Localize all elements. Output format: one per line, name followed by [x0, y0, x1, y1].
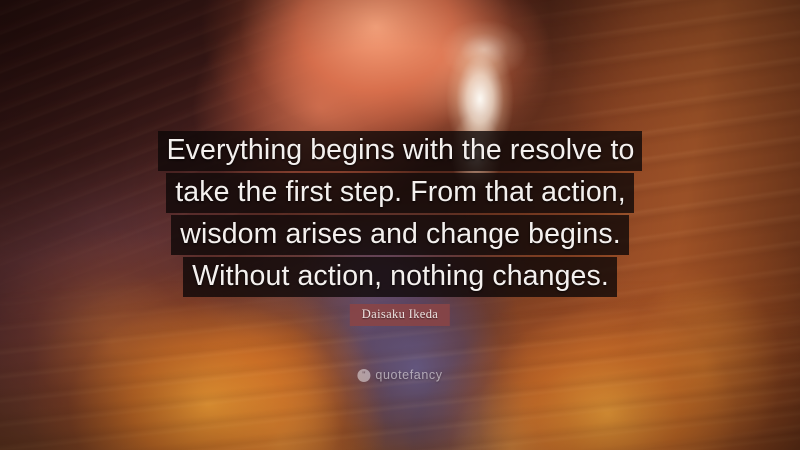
quote-line: Without action, nothing changes. [183, 257, 617, 297]
quote-image-canvas: Everything begins with the resolve to ta… [0, 0, 800, 450]
quote-line: Everything begins with the resolve to [158, 131, 643, 171]
quotefancy-wordmark: quotefancy [375, 368, 442, 382]
author-attribution: Daisaku Ikeda [350, 304, 450, 326]
quote-line: wisdom arises and change begins. [171, 215, 628, 255]
quotefancy-logo-icon: " [357, 369, 370, 382]
quotefancy-watermark: " quotefancy [357, 368, 442, 382]
quote-line: take the first step. From that action, [166, 173, 634, 213]
quote-text-block: Everything begins with the resolve to ta… [0, 131, 800, 299]
